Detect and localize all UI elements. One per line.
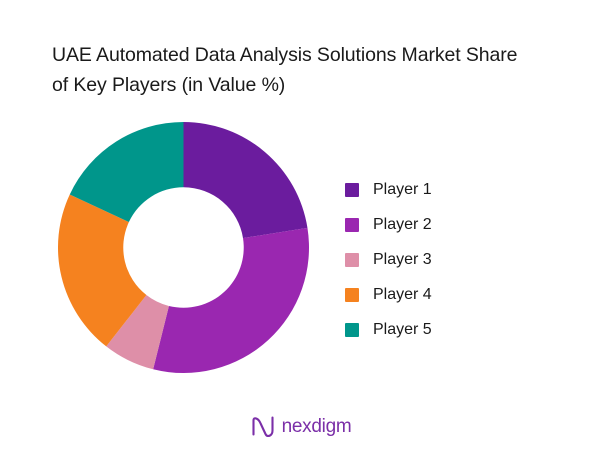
legend-label-player-2: Player 2 — [373, 217, 432, 233]
legend-label-player-3: Player 3 — [373, 252, 432, 268]
legend-label-player-4: Player 4 — [373, 287, 432, 303]
brand-footer: nexdigm — [0, 415, 602, 437]
legend-swatch-player-4 — [345, 288, 359, 302]
legend-item-player-1[interactable]: Player 1 — [345, 172, 525, 207]
chart-page: UAE Automated Data Analysis Solutions Ma… — [0, 0, 602, 451]
donut-segment-group — [58, 122, 309, 373]
page-title: UAE Automated Data Analysis Solutions Ma… — [52, 40, 572, 100]
legend-swatch-player-5 — [345, 323, 359, 337]
donut-chart — [58, 122, 309, 373]
donut-chart-svg — [58, 122, 309, 373]
legend-label-player-5: Player 5 — [373, 322, 432, 338]
legend-item-player-2[interactable]: Player 2 — [345, 207, 525, 242]
legend: Player 1 Player 2 Player 3 Player 4 Play… — [345, 172, 525, 347]
legend-item-player-5[interactable]: Player 5 — [345, 312, 525, 347]
donut-segment-player-2[interactable] — [153, 228, 309, 373]
legend-swatch-player-2 — [345, 218, 359, 232]
legend-label-player-1: Player 1 — [373, 182, 432, 198]
nexdigm-n-logo-icon — [251, 415, 275, 437]
legend-swatch-player-3 — [345, 253, 359, 267]
brand-name: nexdigm — [282, 417, 352, 436]
legend-item-player-4[interactable]: Player 4 — [345, 277, 525, 312]
donut-segment-player-1[interactable] — [184, 122, 308, 238]
legend-item-player-3[interactable]: Player 3 — [345, 242, 525, 277]
legend-swatch-player-1 — [345, 183, 359, 197]
